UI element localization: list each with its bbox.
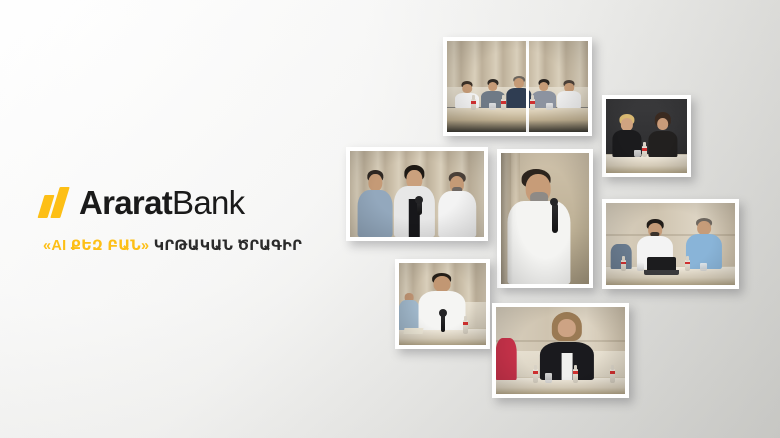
photo-three-standing-speakers <box>346 147 488 241</box>
photo-two-women-listening <box>602 95 691 177</box>
photo-collage <box>0 0 780 438</box>
photo-man-with-microphone <box>497 149 593 288</box>
banner-canvas: AraratBank «AI ՔԵԶ ԲԱՆ» ԿՐԹԱԿԱՆ ԾՐԱԳԻՐ <box>0 0 780 438</box>
photo-panel-discussion <box>443 37 592 136</box>
photo-two-men-laptop <box>602 199 739 289</box>
photo-man-taking-notes <box>395 259 490 349</box>
photo-woman-speaking <box>492 303 629 398</box>
